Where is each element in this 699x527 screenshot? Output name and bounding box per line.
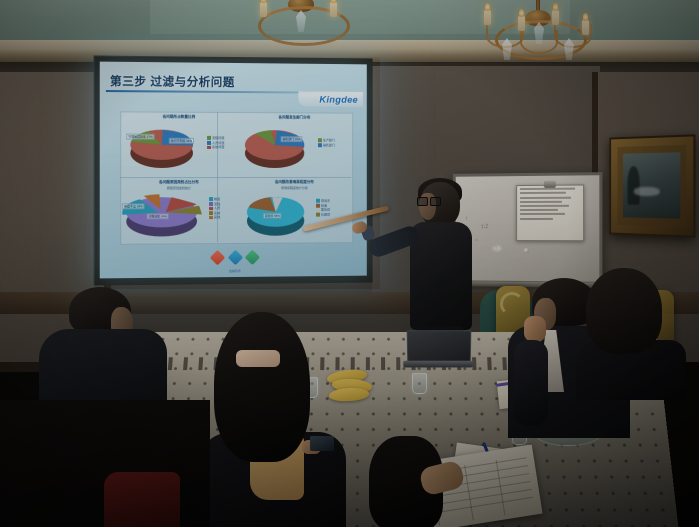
chart-legend: 制度 流程 人员 系统 其他 bbox=[209, 197, 220, 220]
chart-legend: 生产部门 销售部门 bbox=[318, 138, 335, 147]
chandelier-flame bbox=[583, 13, 588, 21]
pie-data-label: 管理制度缺失 27% bbox=[126, 134, 154, 140]
presentation-slide: 第三步 过滤与分析问题 Kingdee 各问题所占数量比例 管理制度缺失 27%… bbox=[100, 62, 367, 279]
legend-label: 流程问题 bbox=[212, 136, 224, 140]
legend-label: 其他 bbox=[214, 215, 220, 219]
diamond-icon-green bbox=[245, 250, 260, 266]
legend-label: 系统问题 bbox=[212, 145, 224, 149]
note-line bbox=[520, 205, 569, 207]
legend-label: 销售部门 bbox=[323, 143, 335, 147]
legend-label: 人员 bbox=[214, 206, 220, 210]
note-line bbox=[520, 217, 553, 219]
chandelier-candle bbox=[330, 2, 337, 17]
laptop[interactable] bbox=[407, 330, 470, 369]
chandelier-candle bbox=[552, 10, 559, 25]
laptop-lid bbox=[407, 330, 472, 364]
slide-footer-text: 金蝶软件 bbox=[100, 268, 367, 275]
chandelier-candle bbox=[260, 2, 267, 17]
chandelier-candle bbox=[518, 16, 525, 31]
note-line bbox=[520, 201, 562, 203]
chart-title: 各问题改善难易程度分布 bbox=[275, 180, 314, 185]
attendee-hair bbox=[586, 268, 662, 354]
attendee-arm bbox=[514, 340, 548, 426]
chandelier-flame bbox=[553, 3, 558, 11]
presenter-torso bbox=[410, 222, 472, 330]
projection-screen: 第三步 过滤与分析问题 Kingdee 各问题所占数量比例 管理制度缺失 27%… bbox=[100, 62, 367, 279]
diamond-icon-red bbox=[210, 250, 226, 266]
chart-legend: 流程问题 人员问题 系统问题 bbox=[207, 136, 224, 150]
pie-chart-bottom-right: 各问题改善难易程度分布 按难易程度统计分类 易改善 68% 易改善 较难 需协调… bbox=[237, 177, 351, 242]
pie-data-label: 执行不到位 31% bbox=[169, 138, 194, 144]
legend-label: 制度 bbox=[214, 197, 220, 201]
chart-subtitle: 按照原因类别统计 bbox=[167, 186, 191, 190]
legend-label: 生产部门 bbox=[323, 138, 335, 142]
pie-data-label: 制度不全 18% bbox=[122, 203, 145, 209]
laptop-base bbox=[403, 361, 473, 368]
painting-canvas bbox=[623, 152, 680, 218]
attendee-hair bbox=[214, 312, 310, 462]
legend-label: 易改善 bbox=[321, 199, 330, 203]
slide-title: 第三步 过滤与分析问题 bbox=[110, 73, 235, 90]
framed-painting bbox=[609, 134, 695, 237]
legend-label: 流程 bbox=[214, 202, 220, 206]
legend-label: 长期项 bbox=[321, 212, 330, 216]
note-line bbox=[520, 196, 571, 198]
flipchart-sheet bbox=[516, 184, 584, 241]
water-glass[interactable] bbox=[412, 373, 427, 394]
attendee-center bbox=[196, 312, 346, 527]
kingdee-logo: Kingdee bbox=[319, 95, 358, 106]
pie-chart-top-right: 各问题发生部门分布 销售部门 22% 生产部门 销售部门 bbox=[237, 112, 351, 177]
diamond-icon-blue bbox=[227, 250, 242, 266]
meeting-room-photo: 第三步 过滤与分析问题 Kingdee 各问题所占数量比例 管理制度缺失 27%… bbox=[0, 0, 699, 527]
attendee-far-right-2 bbox=[576, 268, 686, 388]
whiteboard-magnet[interactable] bbox=[524, 248, 529, 253]
pie-data-label: 销售部门 22% bbox=[281, 136, 303, 142]
chandelier-candle bbox=[582, 20, 589, 35]
pie-chart-top-left: 各问题所占数量比例 管理制度缺失 27% 执行不到位 31% 流程问题 人员问题… bbox=[120, 111, 237, 177]
note-line bbox=[520, 209, 558, 211]
note-line bbox=[520, 192, 566, 194]
note-line bbox=[520, 213, 565, 215]
hair-clip bbox=[236, 350, 280, 367]
chart-legend: 易改善 较难 需协调 长期项 bbox=[316, 199, 330, 217]
attendee-hand bbox=[524, 316, 546, 342]
slide-footer: 金蝶软件 bbox=[100, 249, 367, 274]
chart-title: 各问题所占数量比例 bbox=[163, 115, 196, 120]
pie-data-label: 易改善 68% bbox=[263, 213, 282, 219]
chandelier bbox=[246, 0, 356, 40]
chart-title: 各问题原因类别占比分布 bbox=[159, 180, 199, 185]
chandelier-flame bbox=[519, 9, 524, 17]
pie-chart-bottom-left: 各问题原因类别占比分布 按照原因类别统计 流程缺陷 34% 制度不全 18% 制… bbox=[120, 177, 237, 243]
legend-label: 需协调 bbox=[321, 208, 330, 212]
chandelier-flame bbox=[485, 3, 490, 11]
glasses-icon bbox=[417, 197, 440, 205]
foreground-writer bbox=[369, 436, 499, 527]
foreground-red-garment bbox=[104, 472, 180, 527]
phone[interactable] bbox=[310, 436, 334, 451]
note-line bbox=[520, 188, 575, 190]
paper-clip-icon bbox=[544, 181, 556, 188]
chart-title: 各问题发生部门分布 bbox=[278, 115, 310, 120]
chart-subtitle: 按难易程度统计分类 bbox=[281, 186, 308, 190]
chandelier-candle bbox=[484, 10, 491, 25]
pie-data-label: 流程缺陷 34% bbox=[147, 213, 169, 219]
